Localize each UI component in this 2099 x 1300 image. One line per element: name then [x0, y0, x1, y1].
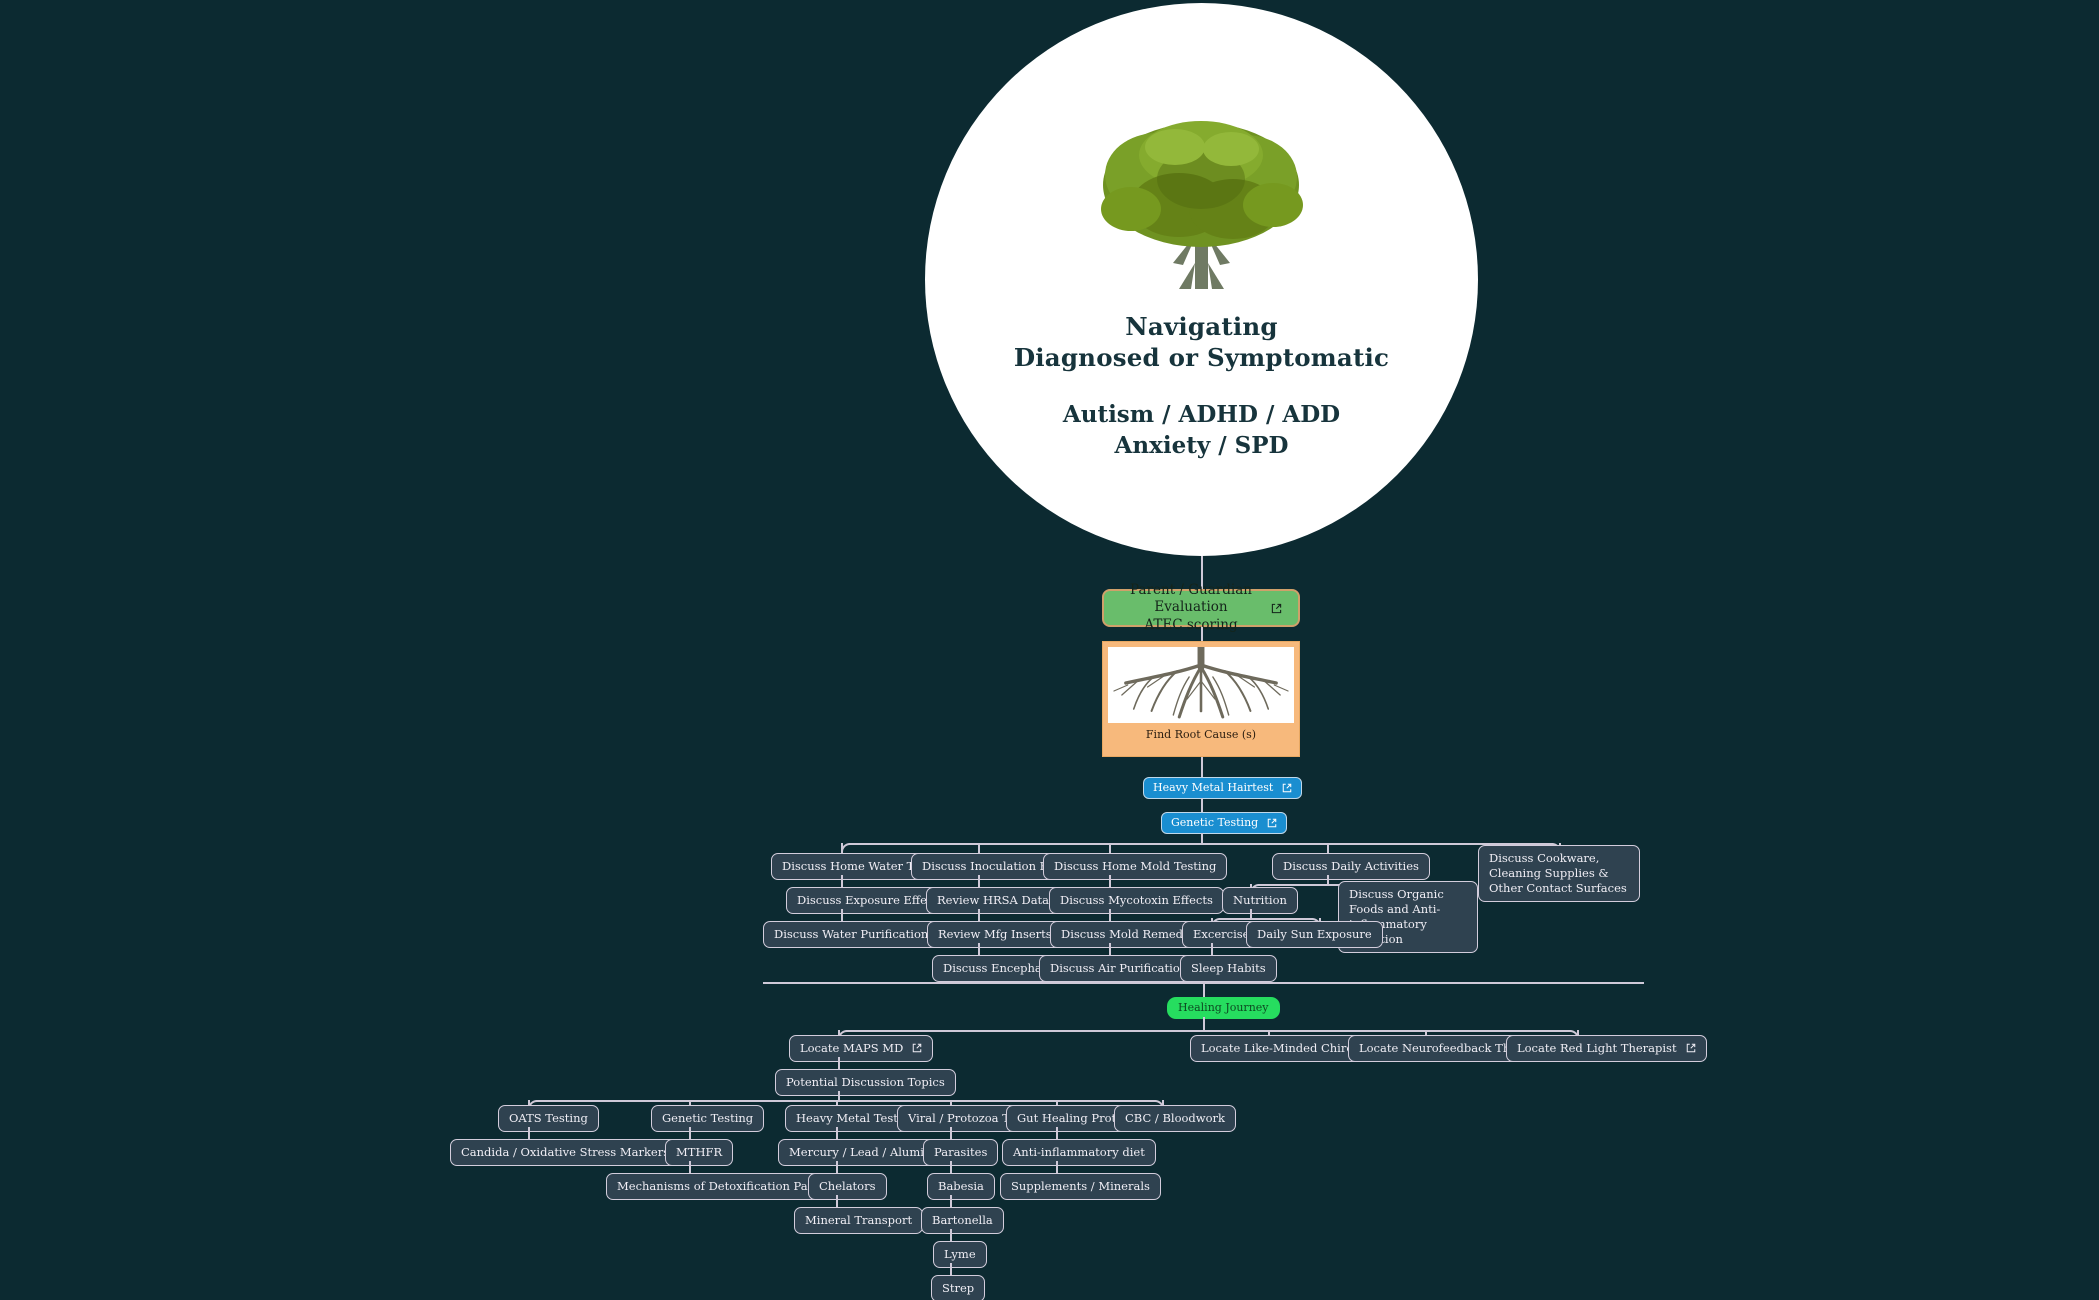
discuss-mycotoxin-effects-node[interactable]: Discuss Mycotoxin Effects — [1049, 887, 1224, 914]
daily-sun-exposure-node[interactable]: Daily Sun Exposure — [1246, 921, 1383, 948]
node-label: Strep — [942, 1281, 974, 1296]
discuss-home-mold-testing-node[interactable]: Discuss Home Mold Testing — [1043, 853, 1227, 880]
tree-icon — [1087, 113, 1317, 293]
evaluation-label: Parent / Guardian Evaluation ATEC scorin… — [1120, 582, 1262, 635]
node-label: Discuss Home Mold Testing — [1054, 859, 1216, 874]
node-label: OATS Testing — [509, 1111, 588, 1126]
hero-sub-line2: Anxiety / SPD — [1063, 431, 1340, 462]
node-label: Sleep Habits — [1191, 961, 1266, 976]
node-label: Discuss Daily Activities — [1283, 859, 1419, 874]
anti-inflammatory-diet-node[interactable]: Anti-inflammatory diet — [1002, 1139, 1156, 1166]
sleep-habits-node[interactable]: Sleep Habits — [1180, 955, 1277, 982]
node-label: Review Mfg Inserts — [938, 927, 1052, 942]
node-label: Anti-inflammatory diet — [1013, 1145, 1145, 1160]
connector-rail — [849, 843, 1553, 845]
node-label: Supplements / Minerals — [1011, 1179, 1150, 1194]
node-label: Potential Discussion Topics — [786, 1075, 945, 1090]
chelators-node[interactable]: Chelators — [808, 1173, 887, 1200]
node-label: Candida / Oxidative Stress Markers — [461, 1145, 669, 1160]
test-label: Genetic Testing — [1171, 816, 1258, 830]
node-label: Babesia — [938, 1179, 984, 1194]
connector-rail — [536, 1100, 1156, 1102]
node-label: CBC / Bloodwork — [1125, 1111, 1225, 1126]
node-label: Healing Journey — [1178, 1001, 1269, 1015]
tree-roots-icon — [1108, 647, 1294, 723]
node-label: Discuss Exposure Effects — [797, 893, 944, 908]
parent-guardian-evaluation-node[interactable]: Parent / Guardian Evaluation ATEC scorin… — [1102, 589, 1300, 627]
discuss-cookware-node[interactable]: Discuss Cookware, Cleaning Supplies & Ot… — [1478, 845, 1640, 902]
supplements-minerals-node[interactable]: Supplements / Minerals — [1000, 1173, 1161, 1200]
lyme-node[interactable]: Lyme — [933, 1241, 987, 1268]
potential-discussion-topics-node[interactable]: Potential Discussion Topics — [775, 1069, 956, 1096]
external-link-icon[interactable] — [1271, 603, 1282, 614]
node-label: Nutrition — [1233, 893, 1287, 908]
discuss-daily-activities-node[interactable]: Discuss Daily Activities — [1272, 853, 1430, 880]
connector — [1327, 875, 1329, 884]
bartonella-node[interactable]: Bartonella — [921, 1207, 1004, 1234]
hero-title: Navigating Diagnosed or Symptomatic — [1014, 311, 1389, 373]
node-label: Bartonella — [932, 1213, 993, 1228]
external-link-icon[interactable] — [1686, 1043, 1696, 1053]
external-link-icon[interactable] — [1267, 818, 1277, 828]
find-root-cause-card: Find Root Cause (s) — [1102, 641, 1300, 757]
candida-oxidative-stress-markers-node[interactable]: Candida / Oxidative Stress Markers — [450, 1139, 680, 1166]
heavy-metal-hairtest-node[interactable]: Heavy Metal Hairtest — [1143, 777, 1302, 799]
node-label: Lyme — [944, 1247, 976, 1262]
babesia-node[interactable]: Babesia — [927, 1173, 995, 1200]
flowchart-canvas: Navigating Diagnosed or Symptomatic Auti… — [0, 0, 2099, 1300]
strep-node[interactable]: Strep — [931, 1275, 985, 1300]
hero-subtitle: Autism / ADHD / ADD Anxiety / SPD — [1063, 400, 1340, 461]
node-label: Discuss Mycotoxin Effects — [1060, 893, 1213, 908]
connector-rail — [846, 1030, 1571, 1032]
hero-sub-line1: Autism / ADHD / ADD — [1063, 400, 1340, 431]
hero-title-line2: Diagnosed or Symptomatic — [1014, 342, 1389, 373]
node-label: Review HRSA Data — [937, 893, 1049, 908]
node-label: Mineral Transport — [805, 1213, 912, 1228]
node-label: Genetic Testing — [662, 1111, 753, 1126]
node-label: Locate MAPS MD — [800, 1041, 903, 1056]
genetic-testing-node[interactable]: Genetic Testing — [1161, 812, 1287, 834]
node-label: Chelators — [819, 1179, 876, 1194]
test-label: Heavy Metal Hairtest — [1153, 781, 1273, 795]
hero-title-line1: Navigating — [1014, 311, 1389, 342]
mthfr-node[interactable]: MTHFR — [665, 1139, 733, 1166]
locate-maps-md-node[interactable]: Locate MAPS MD — [789, 1035, 933, 1062]
hero-circle: Navigating Diagnosed or Symptomatic Auti… — [925, 3, 1478, 556]
node-label: Locate Red Light Therapist — [1517, 1041, 1677, 1056]
healing-journey-node[interactable]: Healing Journey — [1167, 997, 1280, 1019]
genetic-testing-topic-node[interactable]: Genetic Testing — [651, 1105, 764, 1132]
node-label: Excercise — [1193, 927, 1249, 942]
connector — [838, 1091, 840, 1100]
connector — [1203, 1017, 1205, 1030]
nutrition-node[interactable]: Nutrition — [1222, 887, 1298, 914]
node-label: Parasites — [934, 1145, 987, 1160]
external-link-icon[interactable] — [912, 1043, 922, 1053]
connector — [1250, 909, 1252, 918]
external-link-icon[interactable] — [1282, 783, 1292, 793]
node-label: Discuss Cookware, Cleaning Supplies & Ot… — [1489, 851, 1629, 896]
connector-rail — [1219, 918, 1313, 920]
locate-red-light-therapist-node[interactable]: Locate Red Light Therapist — [1506, 1035, 1707, 1062]
root-cause-caption: Find Root Cause (s) — [1146, 723, 1256, 747]
connector — [1201, 627, 1203, 641]
oats-testing-node[interactable]: OATS Testing — [498, 1105, 599, 1132]
mineral-transport-node[interactable]: Mineral Transport — [794, 1207, 923, 1234]
cbc-bloodwork-node[interactable]: CBC / Bloodwork — [1114, 1105, 1236, 1132]
connector — [1201, 833, 1203, 843]
node-label: Daily Sun Exposure — [1257, 927, 1372, 942]
node-label: MTHFR — [676, 1145, 722, 1160]
parasites-node[interactable]: Parasites — [923, 1139, 998, 1166]
